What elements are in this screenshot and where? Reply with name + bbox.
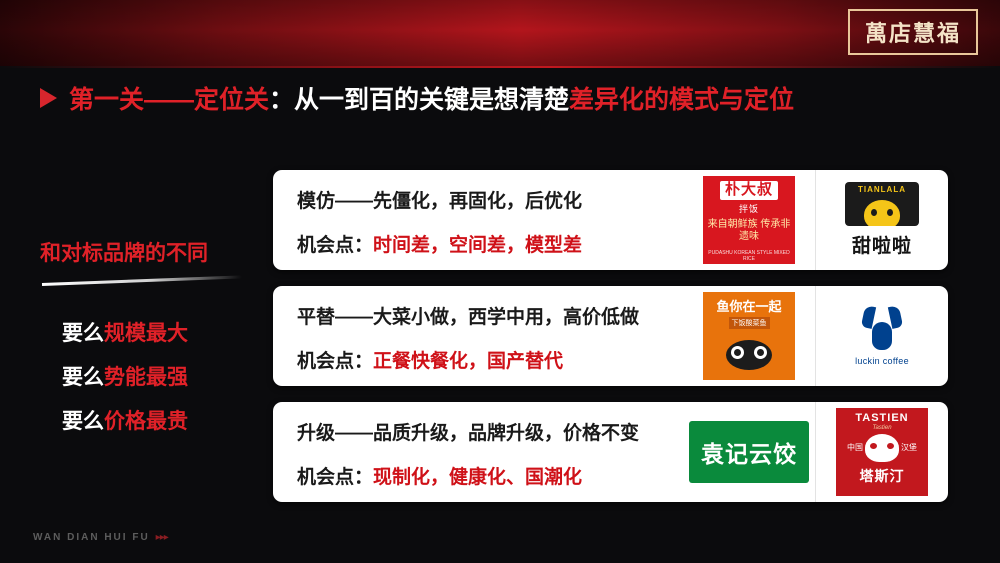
left-item-2-highlight: 势能最强 (104, 366, 188, 389)
tian-la-la-en: TIANLALA (858, 185, 906, 194)
pu-da-shu-sub: 拌饭 (739, 202, 759, 215)
card-2-line-1: 平替——大菜小做，西学中用，高价低做 (297, 302, 672, 329)
logo-yu-ni-zai-yiqi: 鱼你在一起 下饭酸菜鱼 (683, 286, 815, 386)
logo-tian-la-la: TIANLALA 甜啦啦 (815, 170, 948, 270)
left-item-1-prefix: 要么 (62, 322, 104, 345)
tastien-right-cn: 汉堡 (901, 444, 917, 452)
left-item-1: 要么规模最大 (62, 317, 188, 347)
card-1-line-2: 机会点：时间差，空间差，模型差 (297, 230, 672, 257)
card-2-text: 平替——大菜小做，西学中用，高价低做 机会点：正餐快餐化，国产替代 (297, 302, 672, 373)
card-3-text: 升级——品质升级，品牌升级，价格不变 机会点：现制化，健康化、国潮化 (297, 418, 672, 489)
card-2-logos: 鱼你在一起 下饭酸菜鱼 luckin coffee (683, 286, 948, 386)
yu-ni-zai-yiqi-sub: 下饭酸菜鱼 (729, 317, 770, 329)
strategy-card-upgrade: 升级——品质升级，品牌升级，价格不变 机会点：现制化，健康化、国潮化 袁记云饺 … (273, 402, 948, 502)
card-1-text: 模仿——先僵化，再固化，后优化 机会点：时间差，空间差，模型差 (297, 186, 672, 257)
card-3-logos: 袁记云饺 TASTIEN Tastien 中国 汉堡 塔斯汀 (683, 402, 948, 502)
opera-mask-icon (865, 434, 899, 462)
title-segment-white: ：从一到百的关键是想清楚 (269, 80, 569, 116)
left-item-3-highlight: 价格最贵 (104, 410, 188, 433)
card-1-line-2-value: 时间差，空间差，模型差 (373, 235, 582, 256)
pu-da-shu-slogan: 来自朝鲜族 传承非遗味 (703, 219, 795, 244)
title-segment-red-1: 第一关——定位关 (69, 80, 269, 116)
pu-da-shu-name: 朴大叔 (720, 181, 778, 200)
card-3-line-2-key: 机会点： (297, 467, 373, 488)
logo-pu-da-shu: 朴大叔 拌饭 来自朝鲜族 传承非遗味 PUDASHU KOREAN STYLE … (683, 170, 815, 270)
card-2-line-2-key: 机会点： (297, 351, 373, 372)
logo-tastien: TASTIEN Tastien 中国 汉堡 塔斯汀 (815, 402, 948, 502)
footer: WAN DIAN HUI FU ▸▸▸ (33, 532, 168, 543)
luckin-coffee-text: luckin coffee (855, 356, 909, 366)
strategy-card-substitute: 平替——大菜小做，西学中用，高价低做 机会点：正餐快餐化，国产替代 鱼你在一起 … (273, 286, 948, 386)
left-item-1-highlight: 规模最大 (104, 322, 188, 345)
tastien-en: TASTIEN (855, 412, 908, 424)
card-3-line-2: 机会点：现制化，健康化、国潮化 (297, 462, 672, 489)
card-1-line-2-key: 机会点： (297, 235, 373, 256)
tastien-script: Tastien (872, 425, 891, 431)
strategy-card-imitate: 模仿——先僵化，再固化，后优化 机会点：时间差，空间差，模型差 朴大叔 拌饭 来… (273, 170, 948, 270)
left-divider (42, 275, 242, 286)
left-item-2-prefix: 要么 (62, 366, 104, 389)
footer-arrows-icon: ▸▸▸ (156, 532, 168, 543)
footer-text: WAN DIAN HUI FU (33, 532, 150, 543)
card-2-line-2-value: 正餐快餐化，国产替代 (373, 351, 563, 372)
page-title: 第一关——定位关 ：从一到百的关键是想清楚 差异化的模式与定位 (40, 78, 970, 118)
left-section-label: 和对标品牌的不同 (40, 237, 280, 267)
tastien-left-cn: 中国 (847, 444, 863, 452)
bear-face-icon (864, 200, 900, 226)
yu-ni-zai-yiqi-name: 鱼你在一起 (716, 296, 781, 315)
logo-luckin-coffee: luckin coffee (815, 286, 948, 386)
left-item-3: 要么价格最贵 (62, 405, 188, 435)
yuan-ji-yun-jiao-text: 袁记云饺 (701, 435, 797, 469)
pu-da-shu-fineprint: PUDASHU KOREAN STYLE MIXED RICE (703, 250, 795, 262)
brand-logo-text: 萬店慧福 (865, 16, 961, 48)
card-1-line-1: 模仿——先僵化，再固化，后优化 (297, 186, 672, 213)
brand-logo: 萬店慧福 (848, 9, 978, 55)
card-3-line-2-value: 现制化，健康化、国潮化 (373, 467, 582, 488)
title-segment-red-2: 差异化的模式与定位 (569, 80, 794, 116)
card-1-logos: 朴大叔 拌饭 来自朝鲜族 传承非遗味 PUDASHU KOREAN STYLE … (683, 170, 948, 270)
card-3-line-1: 升级——品质升级，品牌升级，价格不变 (297, 418, 672, 445)
play-triangle-icon (40, 88, 57, 108)
left-item-3-prefix: 要么 (62, 410, 104, 433)
tian-la-la-cn: 甜啦啦 (852, 231, 912, 258)
fish-icon (718, 334, 780, 376)
tastien-cn: 塔斯汀 (860, 466, 905, 486)
card-2-line-2: 机会点：正餐快餐化，国产替代 (297, 346, 672, 373)
left-item-2: 要么势能最强 (62, 361, 188, 391)
deer-icon (859, 306, 905, 352)
banner-underline (0, 66, 1000, 68)
logo-yuan-ji-yun-jiao: 袁记云饺 (683, 402, 815, 502)
